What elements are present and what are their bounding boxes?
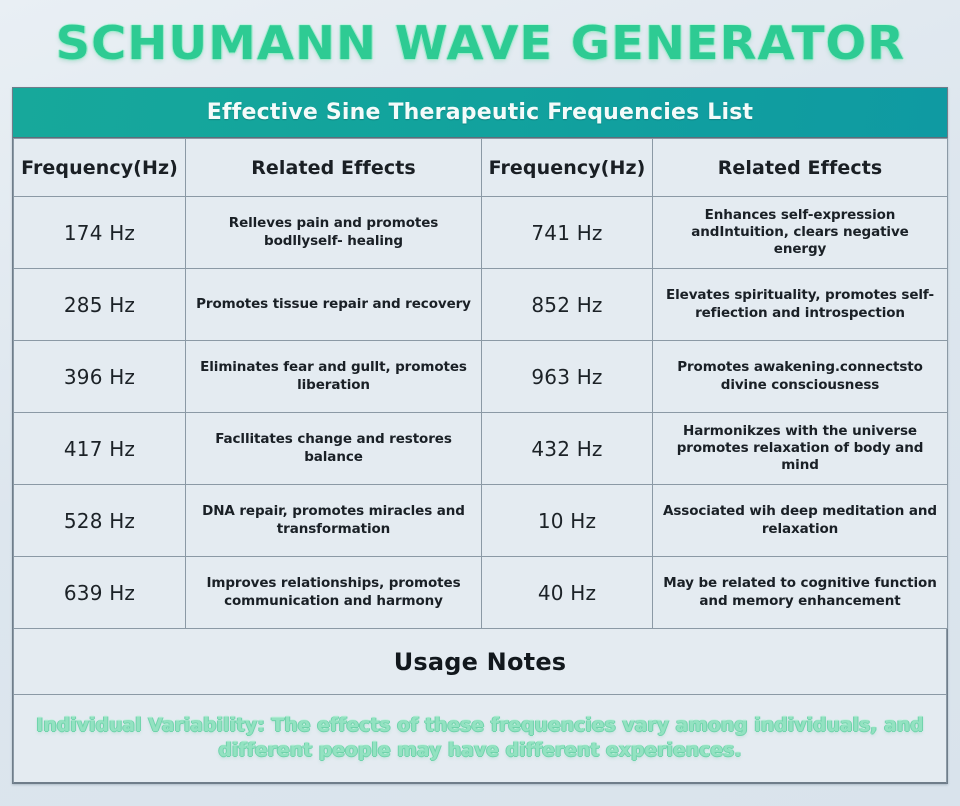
table-row: 417 Hz Facllitates change and restores b…	[14, 413, 948, 485]
table-body: 174 Hz Relleves pain and promotes bodlly…	[14, 197, 948, 629]
frequency-value: 396 Hz	[14, 341, 186, 413]
table-row: 396 Hz Eliminates fear and gullt, promot…	[14, 341, 948, 413]
effect-text: DNA repair, promotes miracles and transf…	[186, 485, 482, 557]
table-caption-band: Effective Sine Therapeutic Frequencies L…	[13, 88, 947, 138]
table-row: 528 Hz DNA repair, promotes miracles and…	[14, 485, 948, 557]
frequency-value: 528 Hz	[14, 485, 186, 557]
effect-text: Relleves pain and promotes bodllyself- h…	[186, 197, 482, 269]
frequency-chart-page: SCHUMANN WAVE GENERATOR Effective Sine T…	[0, 0, 960, 806]
usage-notes-title: Usage Notes	[394, 648, 567, 676]
table-row: 285 Hz Promotes tissue repair and recove…	[14, 269, 948, 341]
frequency-value: 639 Hz	[14, 557, 186, 629]
effect-text: Enhances self-expression andIntuition, c…	[653, 197, 948, 269]
table-row: 174 Hz Relleves pain and promotes bodlly…	[14, 197, 948, 269]
frequencies-table: Frequency(Hz) Related Effects Frequency(…	[13, 138, 948, 629]
frequency-value: 285 Hz	[14, 269, 186, 341]
individual-variability-note: Individual Variability: The effects of t…	[32, 714, 929, 764]
table-caption: Effective Sine Therapeutic Frequencies L…	[207, 100, 754, 125]
column-header-frequency-left: Frequency(Hz)	[14, 139, 186, 197]
title-area: SCHUMANN WAVE GENERATOR	[0, 0, 960, 86]
effect-text: Elevates spirituality, promotes self-ref…	[653, 269, 948, 341]
frequency-value: 10 Hz	[482, 485, 653, 557]
usage-notes-body: Individual Variability: The effects of t…	[13, 695, 947, 783]
frequency-value: 852 Hz	[482, 269, 653, 341]
effect-text: Eliminates fear and gullt, promotes libe…	[186, 341, 482, 413]
effect-text: Improves relationships, promotes communi…	[186, 557, 482, 629]
frequency-value: 417 Hz	[14, 413, 186, 485]
usage-notes-header: Usage Notes	[13, 629, 947, 695]
frequency-value: 741 Hz	[482, 197, 653, 269]
page-title: SCHUMANN WAVE GENERATOR	[55, 16, 904, 70]
column-header-effects-right: Related Effects	[653, 139, 948, 197]
effect-text: Associated wih deep meditation and relax…	[653, 485, 948, 557]
frequency-value: 963 Hz	[482, 341, 653, 413]
frequencies-table-container: Effective Sine Therapeutic Frequencies L…	[12, 87, 948, 784]
column-header-frequency-right: Frequency(Hz)	[482, 139, 653, 197]
frequency-value: 174 Hz	[14, 197, 186, 269]
effect-text: Promotes tissue repair and recovery	[186, 269, 482, 341]
effect-text: Promotes awakening.connectsto divine con…	[653, 341, 948, 413]
effect-text: Facllitates change and restores balance	[186, 413, 482, 485]
effect-text: May be related to cognitive function and…	[653, 557, 948, 629]
column-header-effects-left: Related Effects	[186, 139, 482, 197]
table-header-row: Frequency(Hz) Related Effects Frequency(…	[14, 139, 948, 197]
frequency-value: 432 Hz	[482, 413, 653, 485]
table-row: 639 Hz Improves relationships, promotes …	[14, 557, 948, 629]
frequency-value: 40 Hz	[482, 557, 653, 629]
effect-text: Harmonikzes with the universe promotes r…	[653, 413, 948, 485]
